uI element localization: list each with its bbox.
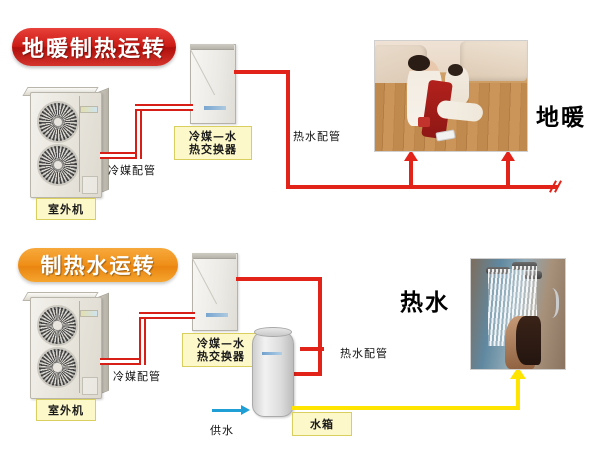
photo-person-hair — [516, 316, 540, 364]
outdoor-unit-top — [30, 92, 100, 196]
water-supply-line — [212, 409, 242, 412]
refrigerant-pipe-label-bottom: 冷媒配管 — [113, 368, 161, 384]
hot-water-pipe-top-main — [286, 185, 558, 189]
outdoor-unit-access-panel — [82, 377, 98, 395]
hot-water-pipe-label-bottom: 热水配管 — [340, 345, 388, 361]
brand-logo-icon — [80, 106, 98, 113]
section-title-hot-water: 制热水运转 — [18, 248, 178, 282]
output-label-floor-heating: 地暖 — [536, 98, 586, 132]
photo-sofa-right — [460, 41, 527, 81]
heat-exchanger-panel-line — [190, 44, 234, 122]
hot-water-pipe-label-top: 热水配管 — [293, 128, 341, 144]
water-tank-top — [254, 327, 293, 337]
outdoor-unit-fan-upper-icon — [37, 305, 78, 346]
hot-water-pipe-bottom-from-unit — [236, 277, 322, 281]
outdoor-unit-fan-lower-icon — [37, 144, 79, 186]
refrigerant-pipe-top-horizontal-upper — [135, 104, 193, 111]
outdoor-unit-bottom — [30, 297, 100, 397]
photo-red-toy — [418, 117, 430, 127]
hot-water-pipe-top-branch-2 — [506, 160, 510, 188]
section-title-floor-heating: 地暖制热运转 — [12, 28, 176, 66]
water-supply-label: 供水 — [210, 422, 234, 438]
brand-logo-icon — [80, 310, 98, 317]
outdoor-unit-fan-upper-icon — [37, 101, 79, 143]
refrigerant-pipe-bottom-horizontal-upper — [139, 312, 195, 319]
diagram-canvas: 地暖制热运转 室外机 冷媒—水 热交换器 冷媒配管 热水配管 — [0, 0, 600, 449]
refrigerant-pipe-top-vertical — [135, 104, 142, 159]
hot-water-delivery-riser — [516, 378, 520, 408]
outdoor-unit-access-panel — [82, 176, 98, 194]
refrigerant-pipe-label-top: 冷媒配管 — [108, 162, 156, 178]
heat-exchanger-unit-top — [190, 44, 234, 122]
hot-water-delivery-line — [292, 406, 520, 410]
brand-logo-icon — [262, 352, 282, 355]
water-supply-arrow-icon — [241, 405, 250, 415]
heat-exchanger-panel-line — [192, 253, 236, 329]
water-tank — [252, 330, 292, 415]
heat-exchanger-unit-bottom — [192, 253, 236, 329]
refrigerant-pipe-bottom-vertical — [139, 312, 146, 365]
hot-water-pipe-bottom-downcomer — [318, 277, 322, 376]
outdoor-unit-divider — [79, 96, 80, 192]
heat-exchanger-label-top: 冷媒—水 热交换器 — [174, 126, 252, 160]
outdoor-unit-label-top: 室外机 — [36, 198, 96, 220]
brand-logo-icon — [204, 106, 226, 110]
hot-water-pipe-bottom-tank-return — [300, 347, 324, 351]
hot-water-pipe-top-riser — [286, 70, 290, 188]
photo-woman-hair — [408, 55, 429, 70]
water-tank-body — [252, 330, 294, 417]
hot-water-pipe-top-from-unit — [234, 70, 290, 74]
outdoor-unit-label-bottom: 室外机 — [36, 399, 96, 421]
outdoor-unit-fan-lower-icon — [37, 347, 78, 388]
hot-water-pipe-top-branch-1 — [409, 160, 413, 188]
floor-heating-photo — [374, 40, 528, 152]
outdoor-unit-divider — [79, 301, 80, 393]
brand-logo-icon — [206, 313, 228, 317]
photo-hand-shower — [541, 288, 559, 319]
water-tank-label: 水箱 — [292, 412, 352, 436]
heat-exchanger-label-bottom: 冷媒—水 热交换器 — [182, 333, 260, 367]
output-label-hot-water: 热水 — [400, 283, 450, 317]
shower-photo — [470, 258, 566, 370]
